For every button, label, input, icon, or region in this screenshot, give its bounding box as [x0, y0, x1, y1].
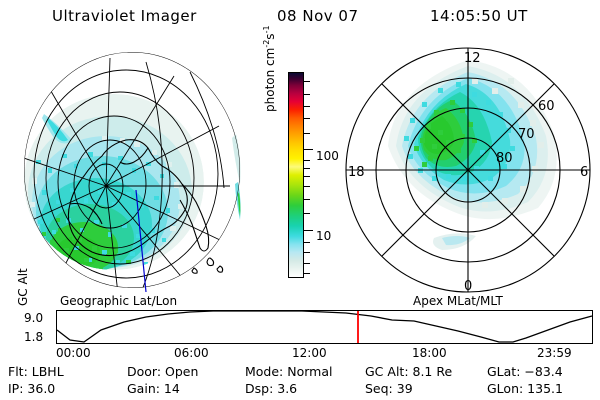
- colorbar-tick: [304, 176, 310, 177]
- colorbar-tick: [304, 273, 310, 274]
- colorbar-tick: [304, 213, 310, 214]
- mlt-label-12: 12: [464, 51, 481, 66]
- orbit-altitude-trace: [57, 311, 592, 342]
- aurora-oval-emission: [388, 60, 557, 250]
- mlt-label-6: 6: [580, 165, 588, 180]
- status-block: Flt: LBHL Door: Open Mode: Normal GC Alt…: [0, 364, 600, 400]
- colorbar-unit-main: photon cm: [263, 48, 277, 112]
- mlat-ring-label-80: 80: [496, 151, 513, 166]
- apex-dial-panel[interactable]: 12 18 6 0 60 70 80: [342, 42, 594, 294]
- colorbar-tick-major: [304, 149, 313, 150]
- colorbar-tick: [304, 242, 310, 243]
- colorbar-label-100: 100: [316, 149, 339, 163]
- colorbar-tick: [304, 94, 310, 95]
- status-gain: Gain: 14: [127, 381, 180, 396]
- orbit-y-axis-label: GC Alt: [16, 268, 30, 306]
- colorbar-tick: [304, 160, 310, 161]
- status-door: Door: Open: [127, 364, 198, 379]
- status-dsp: Dsp: 3.6: [245, 381, 297, 396]
- status-glat: GLat: −83.4: [487, 364, 563, 379]
- geographic-image-panel[interactable]: [14, 42, 256, 294]
- colorbar-tick: [304, 199, 310, 200]
- geographic-panel-caption: Geographic Lat/Lon: [60, 294, 177, 308]
- mlat-ring-label-70: 70: [518, 127, 535, 142]
- header-bar: Ultraviolet Imager 08 Nov 07 14:05:50 UT: [0, 4, 600, 30]
- mlt-label-18: 18: [348, 165, 365, 180]
- colorbar-unit-exp1: -2: [262, 40, 271, 48]
- dial-graticule: [346, 48, 590, 292]
- mlt-label-0: 0: [464, 279, 472, 294]
- apex-panel-caption: Apex MLat/MLT: [413, 294, 503, 308]
- colorbar-gradient: [288, 72, 304, 278]
- colorbar-tick: [304, 81, 310, 82]
- colorbar-tick: [304, 186, 310, 187]
- orbit-xtick-1800: 18:00: [412, 346, 447, 360]
- page-title: Ultraviolet Imager: [52, 7, 197, 25]
- orbit-ytick-high: 9.0: [24, 311, 43, 325]
- status-gc-alt: GC Alt: 8.1 Re: [365, 364, 452, 379]
- status-glon: GLon: 135.1: [487, 381, 563, 396]
- orbit-xtick-0600: 06:00: [174, 346, 209, 360]
- orbit-xtick-1200: 12:00: [292, 346, 327, 360]
- geographic-polar-plot: [14, 42, 256, 294]
- colorbar-tick-major: [304, 230, 313, 231]
- colorbar-tick: [304, 252, 310, 253]
- status-filter: Flt: LBHL: [8, 364, 64, 379]
- status-seq: Seq: 39: [365, 381, 413, 396]
- apex-polar-dial: 12 18 6 0 60 70 80: [342, 42, 594, 294]
- colorbar-unit-mid: s: [263, 33, 277, 39]
- colorbar-tick: [304, 106, 310, 107]
- orbit-altitude-plot[interactable]: [56, 310, 593, 344]
- colorbar-tick: [304, 133, 310, 134]
- status-mode: Mode: Normal: [245, 364, 332, 379]
- colorbar-axis-label: photon cm-2s-1: [262, 25, 277, 112]
- observation-time: 14:05:50 UT: [430, 7, 528, 25]
- orbit-altitude-trace-svg: [56, 310, 593, 344]
- colorbar-tick: [304, 118, 310, 119]
- status-ip: IP: 36.0: [8, 381, 55, 396]
- mlat-ring-label-60: 60: [538, 99, 555, 114]
- colorbar-unit-exp2: -1: [262, 25, 271, 33]
- observation-date: 08 Nov 07: [277, 7, 359, 25]
- orbit-ytick-low: 1.8: [24, 330, 43, 344]
- colorbar-label-10: 10: [316, 229, 331, 243]
- orbit-xtick-2359: 23:59: [537, 346, 572, 360]
- colorbar-tick: [304, 168, 310, 169]
- orbit-xtick-0000: 00:00: [56, 346, 91, 360]
- colorbar-tick: [304, 263, 310, 264]
- colorbar[interactable]: 100 10: [288, 72, 304, 278]
